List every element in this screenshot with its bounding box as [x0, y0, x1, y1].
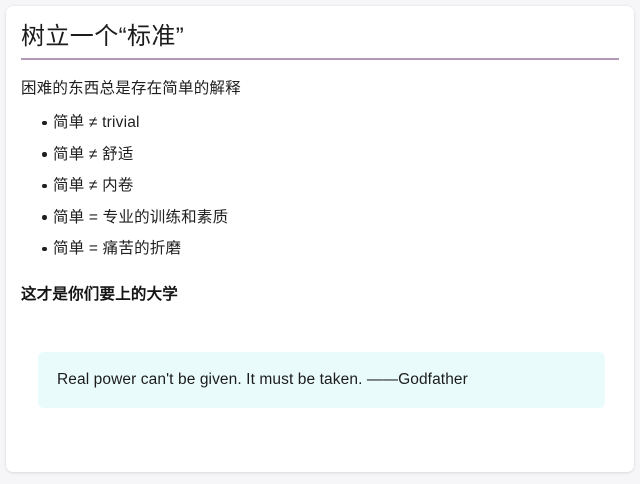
bullet-dot-icon [42, 121, 47, 126]
list-item-label: 简单 ≠ 舒适 [53, 146, 134, 163]
list-item: 简单 = 专业的训练和素质 [21, 202, 619, 234]
page-title: 树立一个“标准” [21, 20, 619, 54]
list-item-label: 简单 = 痛苦的折磨 [53, 240, 181, 257]
lead-paragraph: 困难的东西总是存在简单的解释 [21, 77, 619, 101]
bullet-dot-icon [42, 152, 47, 157]
list-item-label: 简单 ≠ 内卷 [53, 177, 134, 194]
list-item: 简单 ≠ trivial [21, 107, 619, 139]
list-item: 简单 ≠ 内卷 [21, 170, 619, 202]
list-item-label: 简单 = 专业的训练和素质 [53, 209, 228, 226]
slide-title-block: 树立一个“标准” [21, 20, 619, 60]
list-item-label: 简单 ≠ trivial [53, 114, 140, 131]
bullet-dot-icon [42, 247, 47, 252]
emphasis-line: 这才是你们要上的大学 [21, 283, 619, 307]
bullet-dot-icon [42, 184, 47, 189]
quote-text: Real power can't be given. It must be ta… [38, 370, 482, 390]
slide-card: 树立一个“标准” 困难的东西总是存在简单的解释 简单 ≠ trivial 简单 … [6, 6, 634, 472]
bullet-list: 简单 ≠ trivial 简单 ≠ 舒适 简单 ≠ 内卷 简单 = 专业的训练和… [21, 107, 619, 265]
quote-callout-box: Real power can't be given. It must be ta… [38, 352, 605, 408]
title-divider [21, 58, 619, 60]
list-item: 简单 = 痛苦的折磨 [21, 233, 619, 265]
bullet-dot-icon [42, 215, 47, 220]
slide-body: 困难的东西总是存在简单的解释 简单 ≠ trivial 简单 ≠ 舒适 简单 ≠… [21, 77, 619, 307]
list-item: 简单 ≠ 舒适 [21, 139, 619, 171]
